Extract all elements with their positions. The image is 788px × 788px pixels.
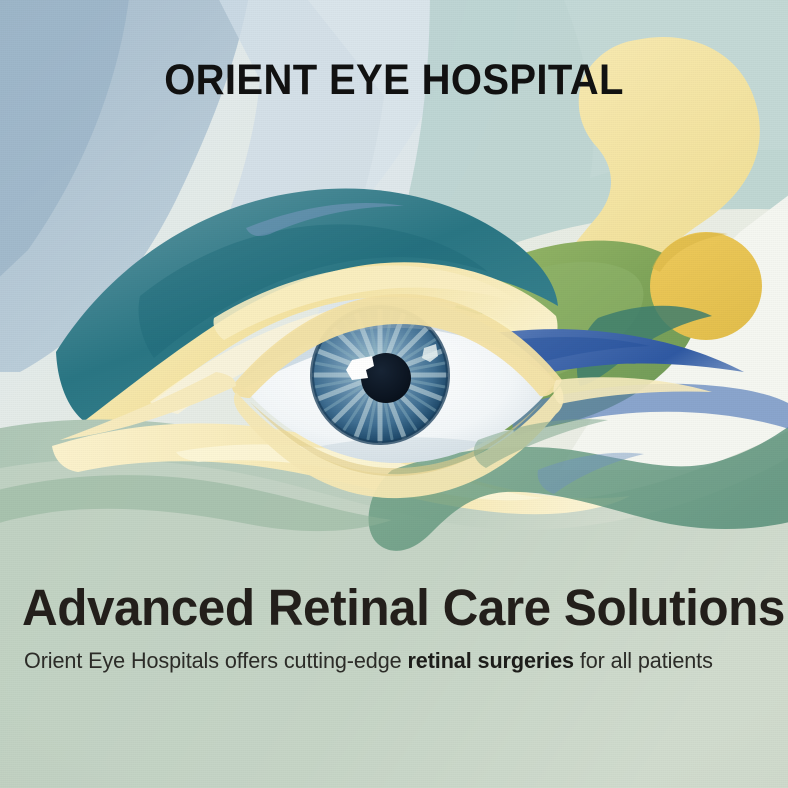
subheadline-before: Orient Eye Hospitals offers cutting-edge xyxy=(24,648,407,673)
subheadline-after: for all patients xyxy=(574,648,713,673)
brand-title: ORIENT EYE HOSPITAL xyxy=(28,56,761,105)
poster-canvas: ORIENT EYE HOSPITAL Advanced Retinal Car… xyxy=(0,0,788,788)
headline: Advanced Retinal Care Solutions xyxy=(22,578,785,637)
subheadline-emphasis: retinal surgeries xyxy=(407,648,573,673)
subheadline: Orient Eye Hospitals offers cutting-edge… xyxy=(24,648,713,674)
